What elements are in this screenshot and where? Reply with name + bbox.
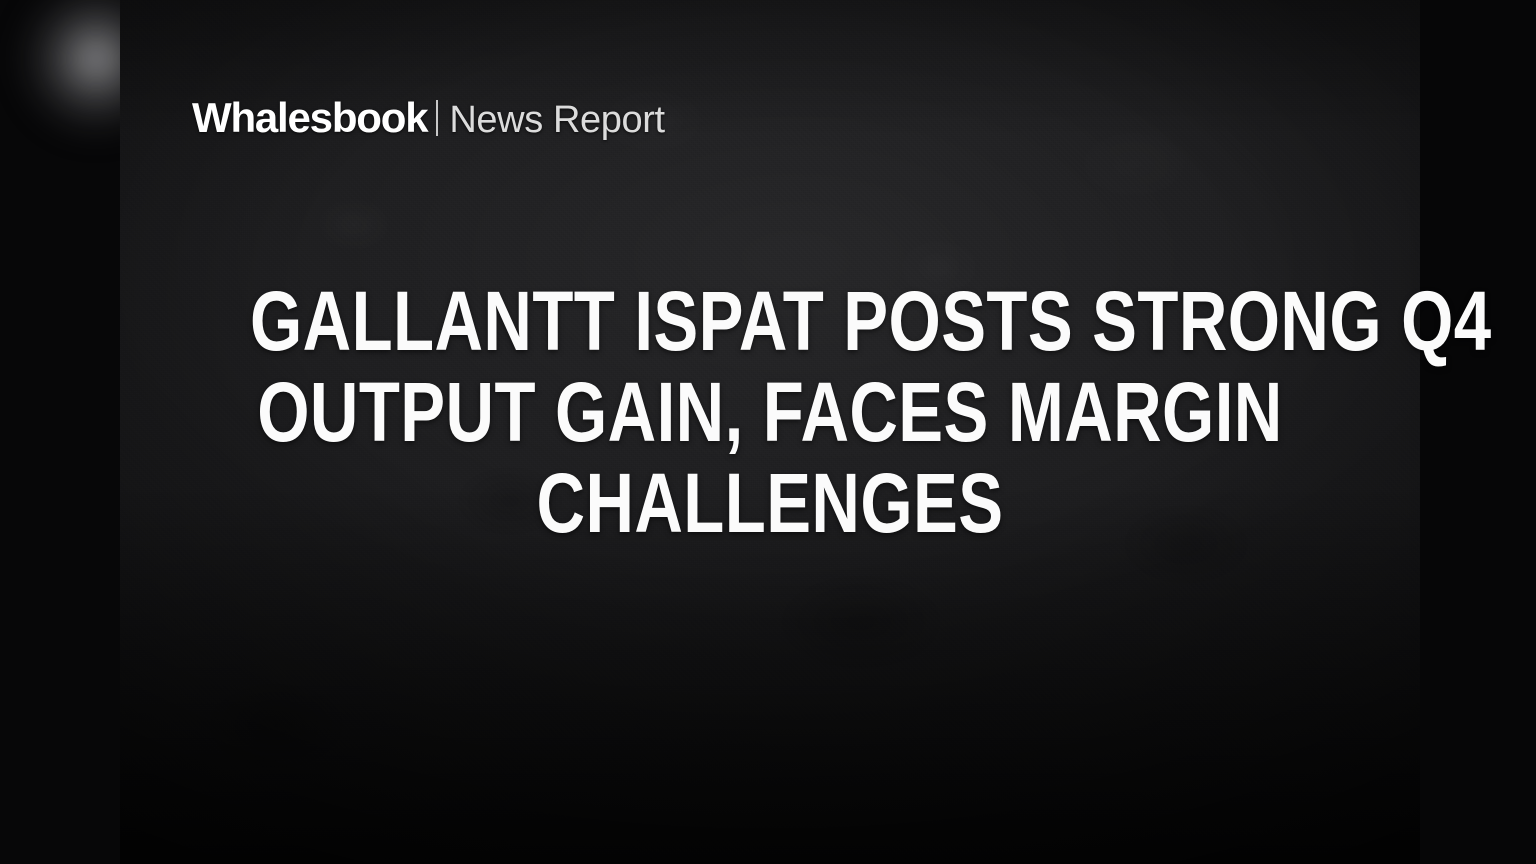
brand-name: Whalesbook bbox=[192, 97, 427, 139]
headline-line-1: GALLANTT ISPAT POSTS STRONG Q4 bbox=[250, 276, 1290, 367]
brand-header: Whalesbook News Report bbox=[192, 96, 665, 139]
brand-subtitle: News Report bbox=[449, 101, 664, 139]
card-content-layer: Whalesbook News Report GALLANTT ISPAT PO… bbox=[0, 0, 1536, 864]
brand-divider-icon bbox=[436, 100, 438, 136]
headline-line-3: CHALLENGES bbox=[250, 458, 1290, 549]
headline: GALLANTT ISPAT POSTS STRONG Q4 OUTPUT GA… bbox=[120, 276, 1420, 549]
news-card-canvas: Whalesbook News Report GALLANTT ISPAT PO… bbox=[0, 0, 1536, 864]
headline-line-2: OUTPUT GAIN, FACES MARGIN bbox=[250, 367, 1290, 458]
